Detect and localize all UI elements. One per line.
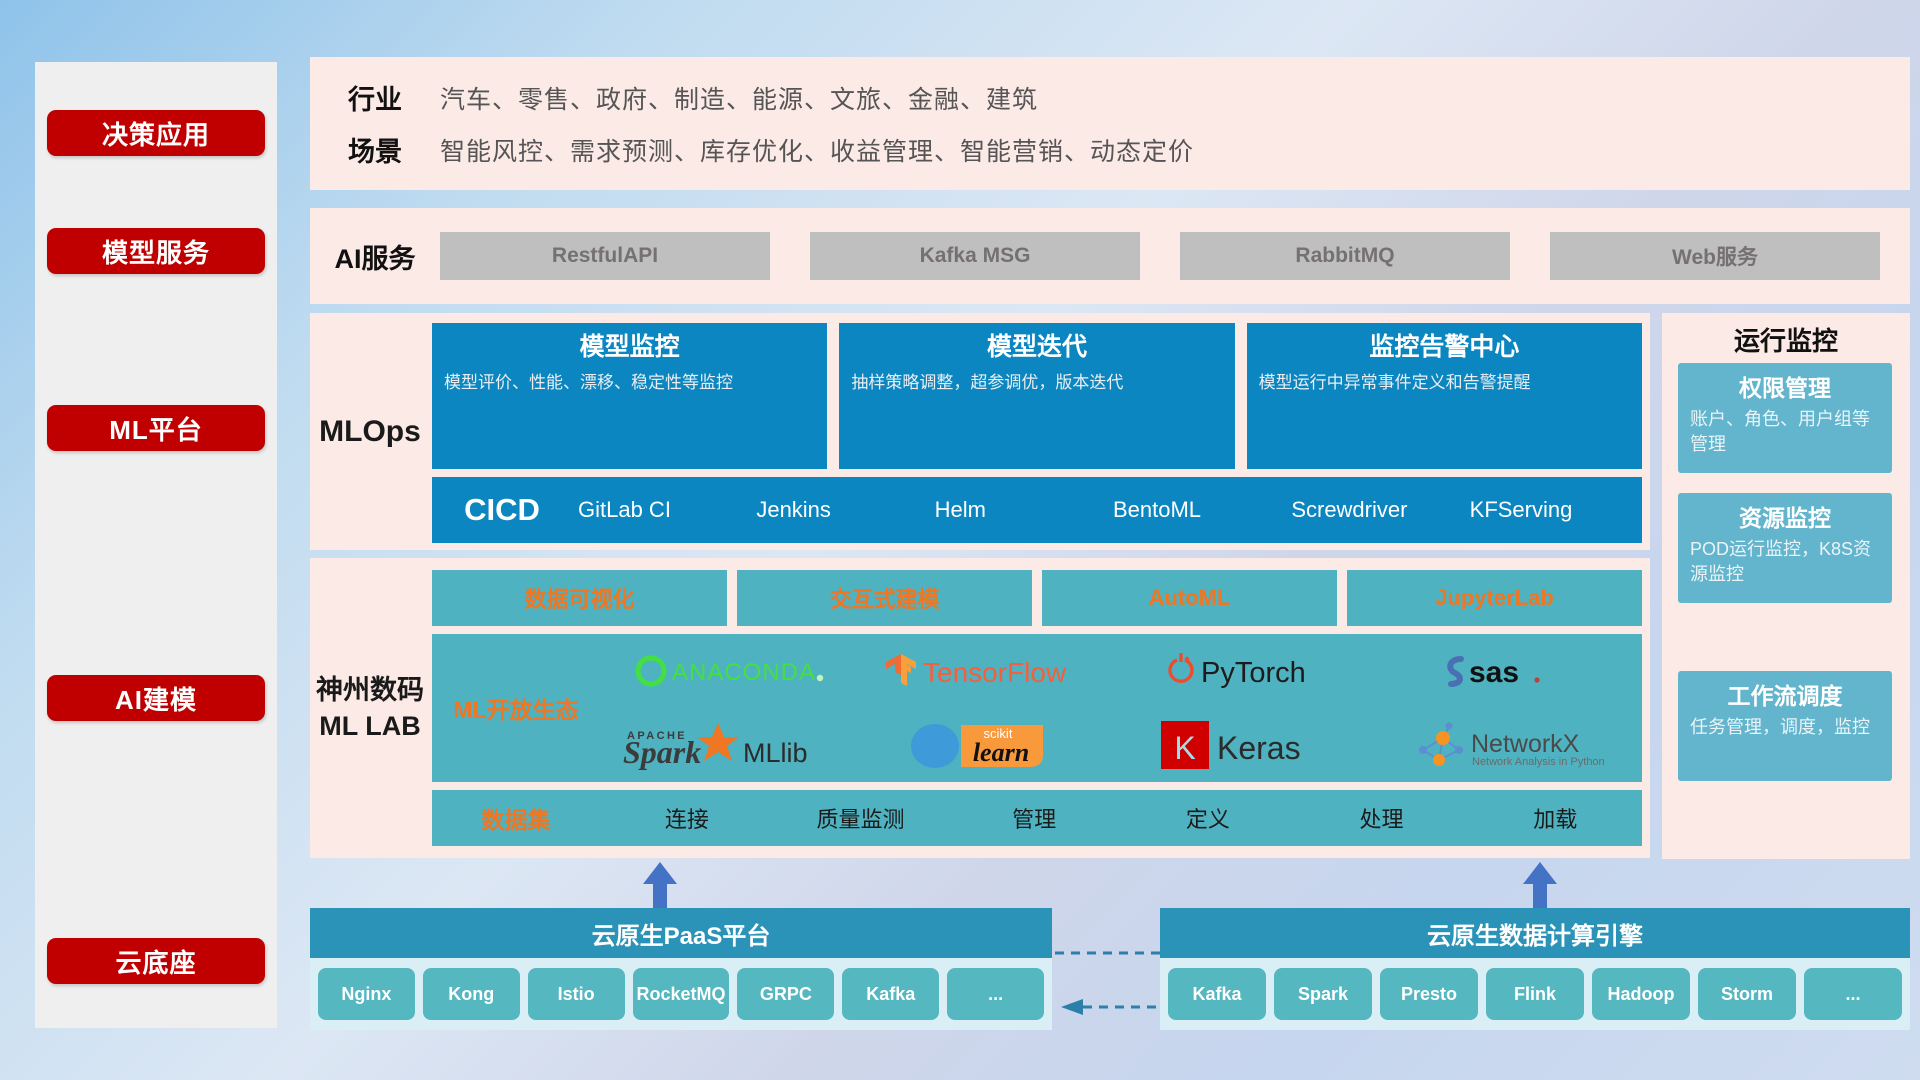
scenario-row: 场景 智能风控、需求预测、库存优化、收益管理、智能营销、动态定价	[310, 124, 1910, 176]
dataset-item-load[interactable]: 加载	[1468, 802, 1642, 834]
paas-platform-group: 云原生PaaS平台 Nginx Kong Istio RocketMQ GRPC…	[310, 908, 1052, 1030]
networkx-logo: NetworkX Network Analysis in Python	[1409, 720, 1614, 770]
card-title: 工作流调度	[1690, 677, 1880, 711]
data-engine-group: 云原生数据计算引擎 Kafka Spark Presto Flink Hadoo…	[1160, 908, 1910, 1030]
industry-label: 行业	[310, 78, 440, 117]
cicd-item-jenkins[interactable]: Jenkins	[750, 498, 928, 521]
pytorch-logo: PyTorch	[1159, 650, 1344, 692]
ai-service-box-web[interactable]: Web服务	[1550, 232, 1880, 280]
chip-hadoop[interactable]: Hadoop	[1592, 968, 1690, 1020]
svg-text:Network Analysis in Python: Network Analysis in Python	[1472, 756, 1605, 768]
dataset-item-quality[interactable]: 质量监测	[774, 802, 948, 834]
chip-spark[interactable]: Spark	[1274, 968, 1372, 1020]
lab-box-interactive-modeling[interactable]: 交互式建模	[737, 570, 1032, 626]
ai-service-box-rabbitmq[interactable]: RabbitMQ	[1180, 232, 1510, 280]
chip-istio[interactable]: Istio	[528, 968, 625, 1020]
keras-logo: K Keras	[1159, 719, 1344, 771]
svg-text:MLlib: MLlib	[743, 738, 808, 768]
cicd-item-bentoml[interactable]: BentoML	[1107, 498, 1285, 521]
svg-text:TensorFlow: TensorFlow	[923, 657, 1067, 688]
lab-box-automl[interactable]: AutoML	[1042, 570, 1337, 626]
ml-ecosystem-row: ML开放生态 ANACONDA TensorFlow	[432, 634, 1642, 782]
chip-grpc[interactable]: GRPC	[737, 968, 834, 1020]
svg-text:learn: learn	[973, 738, 1029, 767]
sidebar-item-model-service[interactable]: 模型服务	[47, 228, 265, 274]
ai-service-panel: AI服务 RestfulAPI Kafka MSG RabbitMQ Web服务	[310, 208, 1910, 304]
card-desc: 模型运行中异常事件定义和告警提醒	[1259, 371, 1630, 395]
sas-logo: sas	[1437, 650, 1587, 692]
tensorflow-logo: TensorFlow	[883, 650, 1098, 692]
monitor-card-permission[interactable]: 权限管理 账户、角色、用户组等管理	[1678, 363, 1892, 473]
ml-ecosystem-label: ML开放生态	[432, 691, 600, 725]
cicd-item-gitlab-ci[interactable]: GitLab CI	[572, 498, 750, 521]
chip-kafka[interactable]: Kafka	[842, 968, 939, 1020]
dataset-item-manage[interactable]: 管理	[947, 802, 1121, 834]
chip-kong[interactable]: Kong	[423, 968, 520, 1020]
mlops-row-label: MLOps	[310, 313, 430, 550]
svg-text:PyTorch: PyTorch	[1201, 657, 1306, 689]
sidebar-item-decision-app[interactable]: 决策应用	[47, 110, 265, 156]
svg-text:Spark: Spark	[623, 734, 701, 770]
lab-box-data-visualization[interactable]: 数据可视化	[432, 570, 727, 626]
card-title: 权限管理	[1690, 369, 1880, 403]
cicd-item-helm[interactable]: Helm	[929, 498, 1107, 521]
lab-box-jupyterlab[interactable]: JupyterLab	[1347, 570, 1642, 626]
sidebar-item-label: ML平台	[109, 410, 203, 447]
dataset-item-connect[interactable]: 连接	[600, 802, 774, 834]
dataset-row: 数据集 连接 质量监测 管理 定义 处理 加载	[432, 790, 1642, 846]
chip-storm[interactable]: Storm	[1698, 968, 1796, 1020]
paas-chip-list: Nginx Kong Istio RocketMQ GRPC Kafka ...	[310, 958, 1052, 1030]
card-desc: 任务管理，调度，监控	[1690, 715, 1880, 740]
spark-mllib-logo: APACHE Spark MLlib	[623, 719, 838, 771]
ai-service-label: AI服务	[310, 237, 440, 276]
ai-service-box-restfulapi[interactable]: RestfulAPI	[440, 232, 770, 280]
cicd-bar: CICD GitLab CI Jenkins Helm BentoML Scre…	[432, 477, 1642, 543]
mlops-card-alert-center[interactable]: 监控告警中心 模型运行中异常事件定义和告警提醒	[1247, 323, 1642, 469]
data-engine-chip-list: Kafka Spark Presto Flink Hadoop Storm ..…	[1160, 958, 1910, 1030]
card-title: 资源监控	[1690, 499, 1880, 533]
scenario-label: 场景	[310, 130, 440, 169]
card-title: 监控告警中心	[1259, 331, 1630, 365]
scenario-values: 智能风控、需求预测、库存优化、收益管理、智能营销、动态定价	[440, 132, 1194, 168]
ml-lab-row-label: 神州数码 ML LAB	[310, 558, 430, 858]
sidebar-item-ai-modeling[interactable]: AI建模	[47, 675, 265, 721]
sidebar-item-ml-platform[interactable]: ML平台	[47, 405, 265, 451]
card-desc: 模型评价、性能、漂移、稳定性等监控	[444, 371, 815, 395]
chip-rocketmq[interactable]: RocketMQ	[633, 968, 730, 1020]
ml-lab-panel: 数据可视化 交互式建模 AutoML JupyterLab ML开放生态 ANA…	[310, 558, 1650, 858]
cicd-item-kfserving[interactable]: KFServing	[1464, 498, 1642, 521]
industry-scenario-panel: 行业 汽车、零售、政府、制造、能源、文旅、金融、建筑 场景 智能风控、需求预测、…	[310, 57, 1910, 190]
industry-row: 行业 汽车、零售、政府、制造、能源、文旅、金融、建筑	[310, 72, 1910, 124]
ai-service-box-kafka-msg[interactable]: Kafka MSG	[810, 232, 1140, 280]
ml-lab-label-line2: ML LAB	[319, 708, 421, 744]
chip-more[interactable]: ...	[1804, 968, 1902, 1020]
ml-lab-label-line1: 神州数码	[316, 672, 424, 708]
card-desc: 账户、角色、用户组等管理	[1690, 407, 1880, 457]
data-engine-title: 云原生数据计算引擎	[1160, 908, 1910, 958]
anaconda-logo: ANACONDA	[630, 651, 830, 691]
mlops-card-model-iteration[interactable]: 模型迭代 抽样策略调整，超参调优，版本迭代	[839, 323, 1234, 469]
mlops-card-model-monitoring[interactable]: 模型监控 模型评价、性能、漂移、稳定性等监控	[432, 323, 827, 469]
chip-flink[interactable]: Flink	[1486, 968, 1584, 1020]
run-monitor-panel: 运行监控 权限管理 账户、角色、用户组等管理 资源监控 POD运行监控，K8S资…	[1662, 313, 1910, 859]
sidebar-item-label: 云底座	[115, 943, 196, 980]
svg-text:ANACONDA: ANACONDA	[672, 659, 816, 686]
dataset-item-process[interactable]: 处理	[1295, 802, 1469, 834]
mlops-panel: 模型监控 模型评价、性能、漂移、稳定性等监控 模型迭代 抽样策略调整，超参调优，…	[310, 313, 1650, 550]
sidebar-item-label: 模型服务	[102, 233, 210, 270]
sidebar-item-cloud-base[interactable]: 云底座	[47, 938, 265, 984]
industry-values: 汽车、零售、政府、制造、能源、文旅、金融、建筑	[440, 80, 1038, 116]
monitor-card-resource[interactable]: 资源监控 POD运行监控，K8S资源监控	[1678, 493, 1892, 603]
chip-kafka[interactable]: Kafka	[1168, 968, 1266, 1020]
paas-platform-title: 云原生PaaS平台	[310, 908, 1052, 958]
card-desc: 抽样策略调整，超参调优，版本迭代	[851, 371, 1222, 395]
chip-nginx[interactable]: Nginx	[318, 968, 415, 1020]
chip-presto[interactable]: Presto	[1380, 968, 1478, 1020]
run-monitor-title: 运行监控	[1662, 321, 1910, 358]
dataset-label: 数据集	[432, 801, 600, 835]
left-rail: 决策应用 模型服务 ML平台 AI建模 云底座	[35, 62, 277, 1028]
scikit-learn-logo: scikit learn	[903, 719, 1078, 771]
svg-text:K: K	[1174, 730, 1195, 766]
svg-text:NetworkX: NetworkX	[1471, 730, 1580, 758]
card-title: 模型监控	[444, 331, 815, 365]
dataset-item-define[interactable]: 定义	[1121, 802, 1295, 834]
chip-more[interactable]: ...	[947, 968, 1044, 1020]
card-title: 模型迭代	[851, 331, 1222, 365]
sidebar-item-label: 决策应用	[102, 115, 210, 152]
cicd-title: CICD	[432, 492, 572, 528]
monitor-card-workflow[interactable]: 工作流调度 任务管理，调度，监控	[1678, 671, 1892, 781]
card-desc: POD运行监控，K8S资源监控	[1690, 537, 1880, 587]
sidebar-item-label: AI建模	[115, 680, 197, 717]
svg-text:Keras: Keras	[1217, 730, 1301, 766]
cicd-item-screwdriver[interactable]: Screwdriver	[1285, 498, 1463, 521]
svg-text:sas: sas	[1469, 656, 1519, 689]
